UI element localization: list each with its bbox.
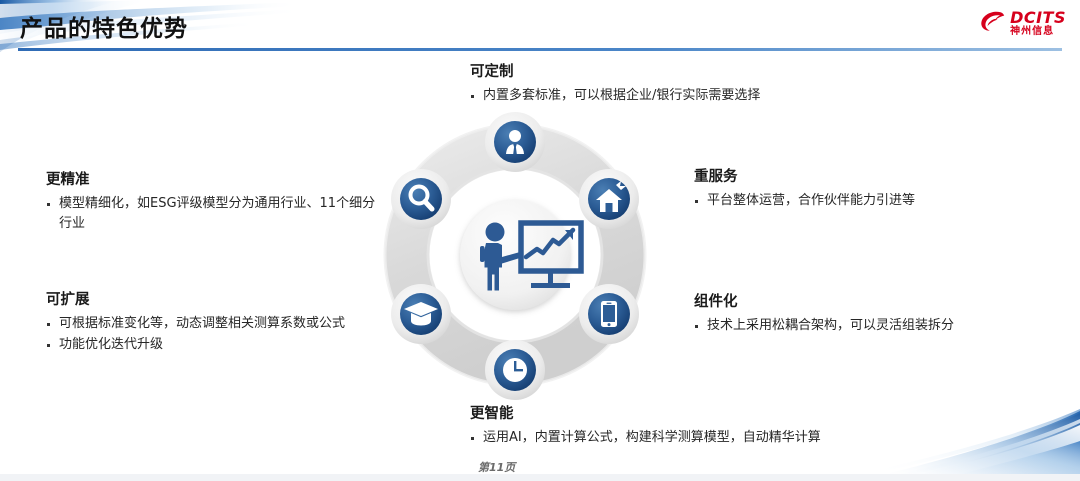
- clock-icon: [503, 358, 527, 382]
- block-title: 可扩展: [46, 288, 382, 309]
- logo-text-en: DCITS: [1010, 10, 1066, 26]
- block-title: 重服务: [694, 165, 1024, 186]
- page-number: 第11页: [478, 459, 515, 475]
- bullet-item: 平台整体运营，合作伙伴能力引进等: [694, 191, 1024, 211]
- feature-ring-diagram: [375, 110, 655, 400]
- node-clock: [485, 340, 545, 400]
- node-user-person: [485, 112, 545, 172]
- block-title: 更精准: [46, 168, 382, 189]
- node-mobile-phone: [579, 284, 639, 344]
- footer-strip: [0, 474, 1080, 481]
- feature-block-customizable: 可定制 内置多套标准，可以根据企业/银行实际需要选择: [470, 60, 940, 107]
- block-bullet-list: 模型精细化，如ESG评级模型分为通用行业、11个细分行业: [46, 194, 382, 234]
- node-house: [579, 169, 639, 229]
- feature-block-modular: 组件化 技术上采用松耦合架构，可以灵活组装拆分: [694, 290, 1024, 337]
- bullet-item: 模型精细化，如ESG评级模型分为通用行业、11个细分行业: [46, 194, 382, 234]
- bullet-item: 内置多套标准，可以根据企业/银行实际需要选择: [470, 86, 940, 106]
- mobile-phone-icon: [601, 301, 617, 327]
- bullet-item: 技术上采用松耦合架构，可以灵活组装拆分: [694, 316, 1024, 336]
- block-bullet-list: 可根据标准变化等，动态调整相关测算系数或公式 功能优化迭代升级: [46, 314, 382, 355]
- block-title: 组件化: [694, 290, 1024, 311]
- block-bullet-list: 内置多套标准，可以根据企业/银行实际需要选择: [470, 86, 940, 106]
- feature-block-accurate: 更精准 模型精细化，如ESG评级模型分为通用行业、11个细分行业: [46, 168, 382, 235]
- page-title: 产品的特色优势: [20, 9, 188, 43]
- footer-decoration-swoosh: [850, 401, 1080, 481]
- node-graduation-cap: [391, 284, 451, 344]
- block-title: 可定制: [470, 60, 940, 81]
- dcits-logo: DCITS 神州信息: [979, 9, 1066, 38]
- node-magnifying-glass: [391, 169, 451, 229]
- bullet-item: 功能优化迭代升级: [46, 335, 382, 355]
- bullet-item: 可根据标准变化等，动态调整相关测算系数或公式: [46, 314, 382, 334]
- feature-block-service: 重服务 平台整体运营，合作伙伴能力引进等: [694, 165, 1024, 212]
- logo-text-cn: 神州信息: [1010, 27, 1066, 37]
- feature-block-extensible: 可扩展 可根据标准变化等，动态调整相关测算系数或公式 功能优化迭代升级: [46, 288, 382, 356]
- slide-header: 产品的特色优势 DCITS 神州信息: [0, 0, 1080, 52]
- header-divider-rule: [18, 48, 1062, 51]
- block-bullet-list: 平台整体运营，合作伙伴能力引进等: [694, 191, 1024, 211]
- dcits-logo-mark-icon: [979, 9, 1005, 38]
- block-bullet-list: 技术上采用松耦合架构，可以灵活组装拆分: [694, 316, 1024, 336]
